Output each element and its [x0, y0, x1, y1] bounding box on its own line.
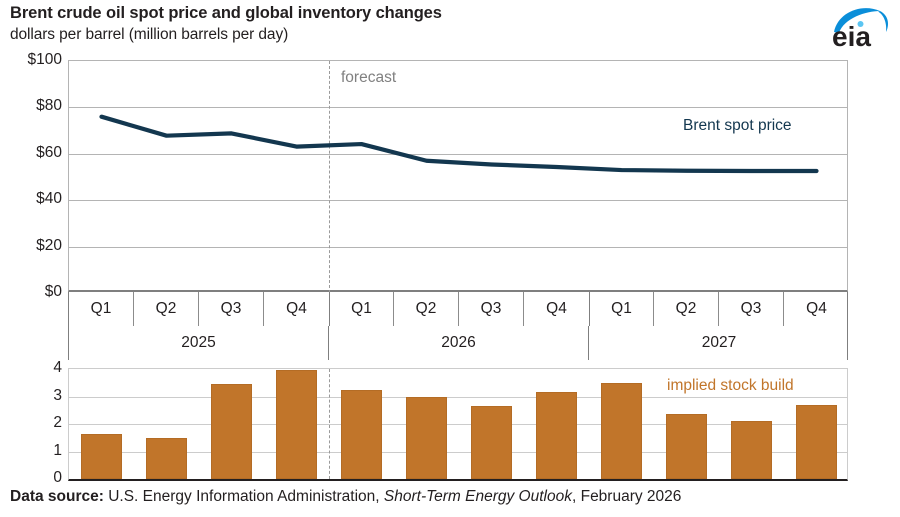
bar-Q3-2026 — [471, 406, 511, 479]
quarter-label-2025-q1: Q1 — [69, 292, 134, 326]
quarter-label-2026-q1: Q1 — [329, 292, 394, 326]
quarter-label-2026-q2: Q2 — [394, 292, 459, 326]
bar-Q1-2025 — [81, 434, 121, 479]
bar-Q2-2027 — [666, 414, 706, 479]
y-tick-20: $20 — [2, 237, 62, 255]
y-tick-80: $80 — [2, 97, 62, 115]
forecast-label: forecast — [341, 69, 396, 87]
bar-forecast-divider-line — [329, 369, 330, 479]
bar-Q1-2027 — [601, 383, 641, 479]
implied-stock-build-legend: implied stock build — [667, 377, 794, 395]
quarter-label-2026-q4: Q4 — [524, 292, 589, 326]
bar-Q3-2027 — [731, 421, 771, 479]
bar-Q4-2025 — [276, 370, 316, 479]
bar-y-tick-3: 3 — [2, 387, 62, 405]
bar-Q2-2026 — [406, 397, 446, 480]
bar-Q2-2025 — [146, 438, 186, 479]
line-series-svg — [69, 61, 849, 293]
bar-gridline-2 — [69, 424, 847, 425]
bar-y-tick-2: 2 — [2, 414, 62, 432]
bar-y-tick-4: 4 — [2, 359, 62, 377]
quarter-label-2027-q4: Q4 — [784, 292, 849, 326]
page-subtitle: dollars per barrel (million barrels per … — [10, 26, 288, 44]
quarter-label-2025-q3: Q3 — [199, 292, 264, 326]
y-tick-60: $60 — [2, 144, 62, 162]
line-chart-y-axis: $100 $80 $60 $40 $20 $0 — [0, 60, 62, 292]
bar-y-tick-1: 1 — [2, 442, 62, 460]
bar-Q1-2026 — [341, 390, 381, 479]
chart-page: Brent crude oil spot price and global in… — [0, 0, 900, 517]
bar-chart-y-axis: 4 3 2 1 0 — [0, 368, 62, 481]
y-tick-100: $100 — [2, 51, 62, 69]
source-date: , February 2026 — [572, 488, 681, 505]
quarter-label-2025-q2: Q2 — [134, 292, 199, 326]
quarter-label-2027-q3: Q3 — [719, 292, 784, 326]
quarter-label-2025-q4: Q4 — [264, 292, 329, 326]
eia-logo-icon: eia — [828, 2, 892, 50]
bar-Q4-2027 — [796, 405, 836, 479]
y-tick-40: $40 — [2, 190, 62, 208]
bar-Q3-2025 — [211, 384, 251, 479]
quarter-year-axis: Q1 Q2 Q3 Q4 Q1 Q2 Q3 Q4 Q1 Q2 Q3 Q4 2025… — [68, 292, 848, 360]
brent-spot-price-legend: Brent spot price — [683, 117, 792, 135]
year-label-2027: 2027 — [589, 326, 849, 360]
year-label-2026: 2026 — [329, 326, 589, 360]
source-prefix: Data source: — [10, 488, 104, 505]
quarter-label-2027-q2: Q2 — [654, 292, 719, 326]
bar-Q4-2026 — [536, 392, 576, 479]
page-title: Brent crude oil spot price and global in… — [10, 4, 442, 23]
line-chart-plot-area — [68, 60, 848, 292]
source-agency: U.S. Energy Information Administration, — [104, 488, 384, 505]
data-source-note: Data source: U.S. Energy Information Adm… — [10, 488, 681, 506]
bar-y-tick-0: 0 — [2, 469, 62, 487]
quarter-label-2026-q3: Q3 — [459, 292, 524, 326]
source-publication: Short-Term Energy Outlook — [384, 488, 572, 505]
svg-text:eia: eia — [832, 21, 871, 50]
y-tick-0: $0 — [2, 283, 62, 301]
quarter-label-2027-q1: Q1 — [589, 292, 654, 326]
year-label-2025: 2025 — [69, 326, 329, 360]
bar-gridline-3 — [69, 397, 847, 398]
